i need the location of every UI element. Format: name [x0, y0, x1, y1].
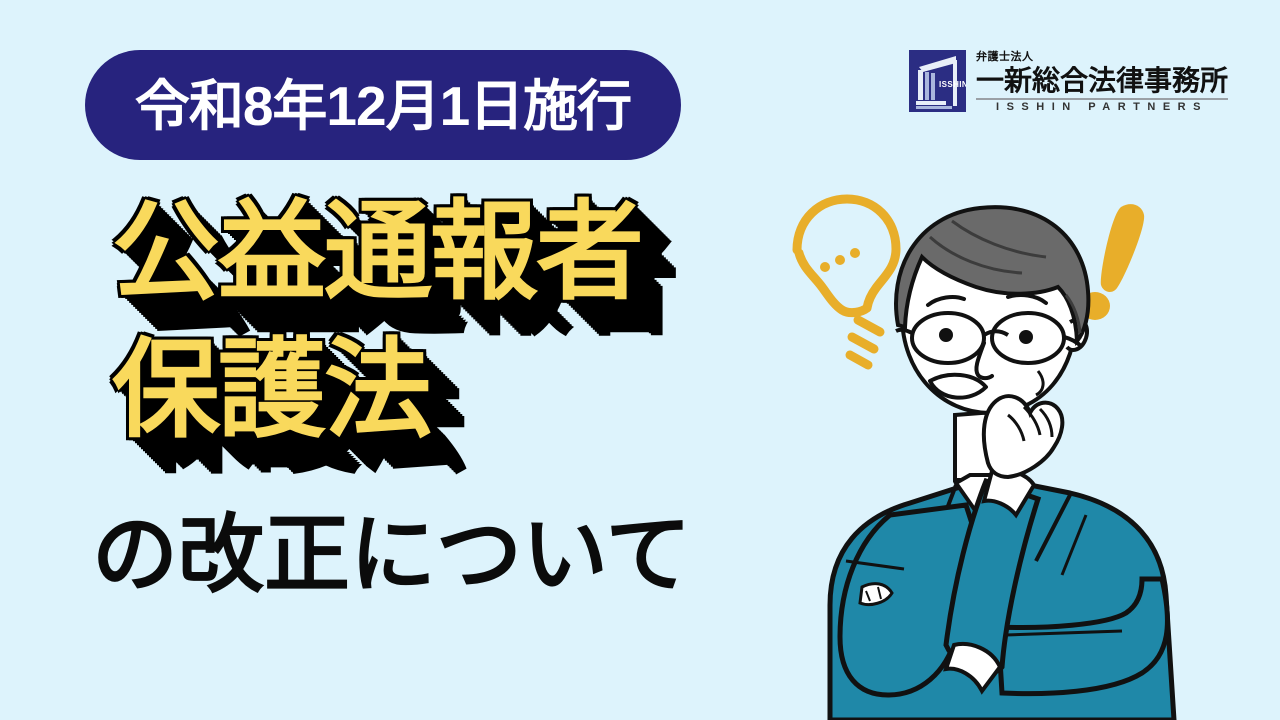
headline-line-2: 保護法 — [112, 336, 430, 444]
firm-logo: ISSHIN 弁護士法人 一新総合法律事務所 ISSHIN PARTNERS — [909, 50, 1228, 113]
slide-canvas: 令和8年12月1日施行 ISSHIN 弁護士法人 一新総合法律事務 — [0, 0, 1280, 720]
lightbulb-icon — [797, 199, 896, 365]
lightbulb-sparkle-dots — [820, 248, 860, 272]
firm-logo-divider — [976, 98, 1228, 100]
firm-logo-subtitle: ISSHIN PARTNERS — [976, 102, 1228, 113]
isshin-building-icon: ISSHIN — [909, 50, 966, 112]
effective-date-badge: 令和8年12月1日施行 — [85, 50, 681, 160]
eye-right — [1019, 330, 1033, 344]
headline-line-1: 公益通報者 — [112, 198, 642, 306]
eye-left — [939, 328, 953, 342]
svg-text:ISSHIN: ISSHIN — [939, 80, 966, 89]
illustration-group — [770, 175, 1280, 720]
firm-logo-text: 弁護士法人 一新総合法律事務所 ISSHIN PARTNERS — [976, 50, 1228, 113]
effective-date-badge-label: 令和8年12月1日施行 — [135, 79, 631, 134]
headline-line-3: の改正について — [92, 512, 691, 598]
firm-logo-kicker: 弁護士法人 — [976, 52, 1228, 63]
firm-logo-name: 一新総合法律事務所 — [976, 66, 1228, 95]
